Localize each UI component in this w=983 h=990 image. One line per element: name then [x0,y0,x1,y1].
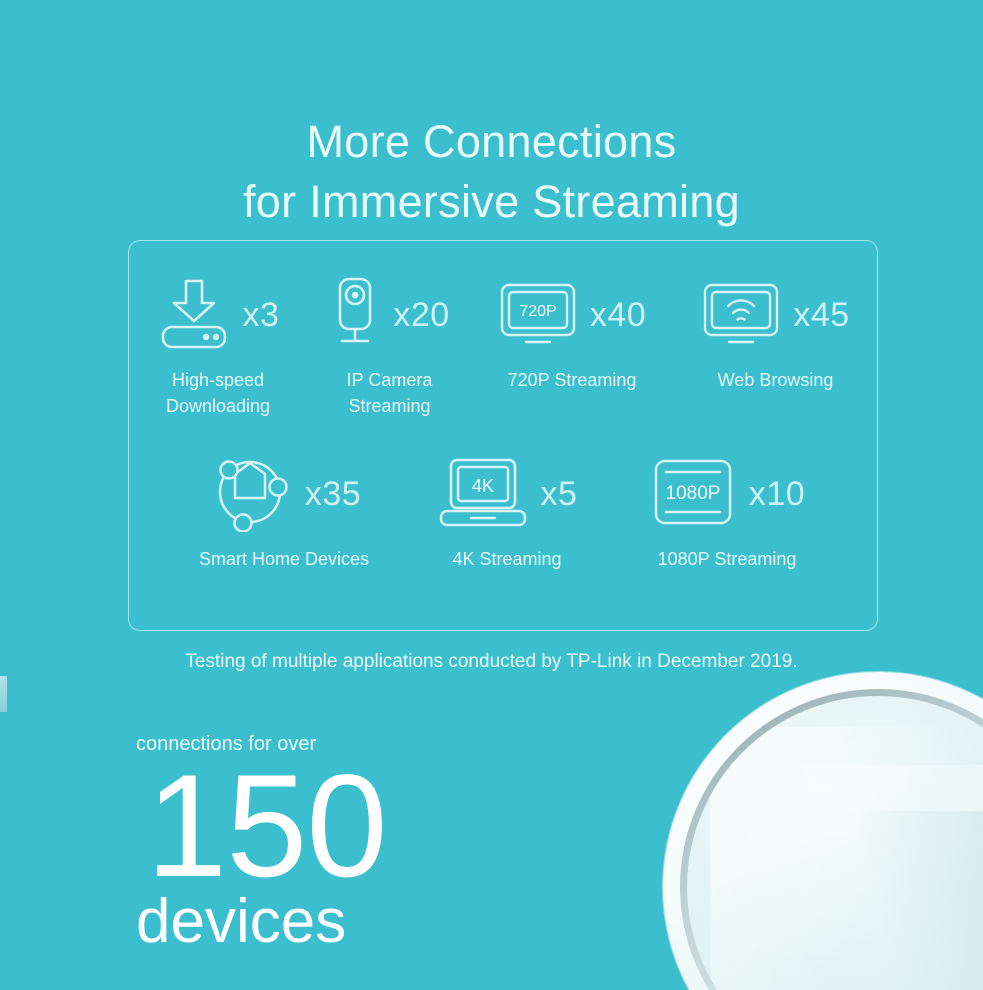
feature-ip-camera-streaming: x20 IP Camera Streaming [307,277,472,419]
feature-icon-row: 1080P x10 [649,456,805,532]
feature-icon-row: x20 [329,277,449,353]
monitor-720p-icon: 720P [498,275,578,356]
feature-720p-streaming: 720P x40 720P Streaming [472,277,672,419]
page-title: More Connections for Immersive Streaming [0,112,983,232]
router-outer-ring [663,672,983,990]
monitor-screen-text: 720P [519,303,556,320]
left-edge-artifact [0,676,7,712]
ip-camera-icon [329,275,381,356]
download-icon [157,275,231,356]
feature-label: 720P Streaming [508,367,637,393]
feature-multiplier: x3 [243,298,280,332]
promo-graphic: More Connections for Immersive Streaming [0,0,983,990]
smart-home-icon [207,452,293,537]
feature-icon-row: x3 [157,277,280,353]
feature-multiplier: x40 [590,298,646,332]
router-disc-graphic [663,672,983,990]
feature-panel: x3 High-speed Downloading [128,240,878,631]
feature-smart-home-devices: x35 Smart Home Devices [161,456,407,572]
feature-icon-row: 720P x40 [498,277,646,353]
feature-high-speed-downloading: x3 High-speed Downloading [129,277,307,419]
feature-icon-row: 4K x5 [437,456,578,532]
feature-label: IP Camera Streaming [347,367,433,419]
feature-multiplier: x10 [749,477,805,511]
feature-row-1: x3 High-speed Downloading [129,277,879,419]
feature-label: 1080P Streaming [658,546,797,572]
feature-multiplier: x5 [541,477,578,511]
feature-icon-row: x45 [701,277,849,353]
laptop-4k-icon: 4K [437,454,529,535]
tv-screen-text: 1080P [665,483,720,504]
feature-1080p-streaming: 1080P x10 1080P Streaming [607,456,847,572]
claim-block: connections for over 150 devices [136,731,387,953]
claim-number: 150 [146,763,387,889]
monitor-wifi-icon [701,275,781,356]
feature-multiplier: x45 [793,298,849,332]
feature-label: Smart Home Devices [199,546,369,572]
feature-multiplier: x20 [393,298,449,332]
tv-1080p-icon: 1080P [649,454,737,535]
router-shadow-band [680,689,983,990]
router-sheen-primary [710,727,983,990]
laptop-screen-text: 4K [472,476,494,496]
footnote-text: Testing of multiple applications conduct… [0,651,983,673]
feature-multiplier: x35 [305,477,361,511]
feature-label: Web Browsing [718,367,834,393]
feature-label: 4K Streaming [452,546,561,572]
feature-web-browsing: x45 Web Browsing [672,277,879,419]
headline-line-2: for Immersive Streaming [0,172,983,232]
router-sheen-tertiary [786,811,983,990]
feature-row-2: x35 Smart Home Devices 4K [129,456,879,572]
router-sheen-secondary [802,765,983,990]
feature-label: High-speed Downloading [166,367,270,419]
headline-line-1: More Connections [307,116,677,167]
router-face [687,696,983,990]
feature-icon-row: x35 [207,456,361,532]
feature-4k-streaming: 4K x5 4K Streaming [407,456,607,572]
